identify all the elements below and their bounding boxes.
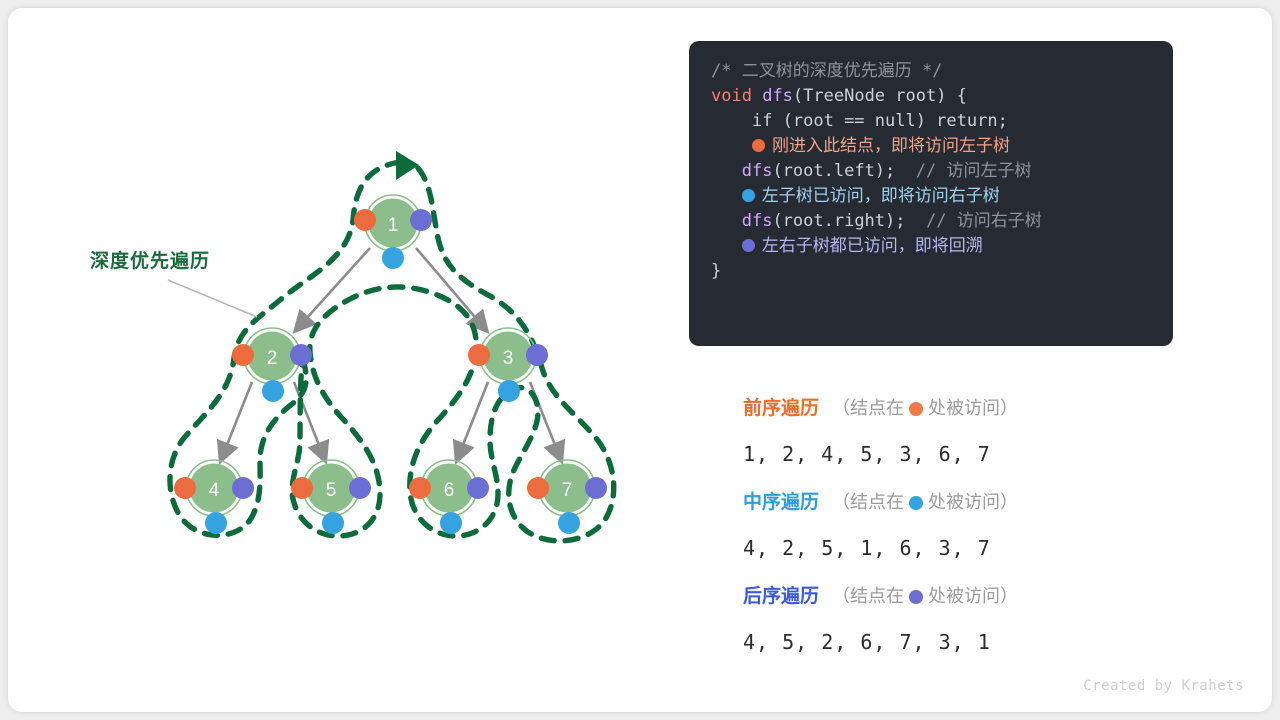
postorder-dot-icon: [742, 239, 755, 252]
inorder-note-suffix: 处被访问）: [928, 492, 1018, 512]
postorder-dot: [232, 477, 254, 499]
postorder-title: 后序遍历: [743, 586, 819, 607]
node-label: 2: [267, 348, 278, 369]
preorder-dot-icon: [909, 402, 923, 416]
preorder-note-suffix: 处被访问）: [928, 398, 1018, 418]
preorder-dot: [354, 209, 376, 231]
postorder-dot-icon: [909, 590, 923, 604]
postorder-dot: [585, 477, 607, 499]
inorder-sequence: 4, 2, 5, 1, 6, 3, 7: [743, 525, 1183, 571]
tree-nodes: 1 2 3: [174, 195, 607, 534]
code-keyword-void: void: [711, 86, 752, 106]
credit-text: Created by Krahets: [1083, 678, 1244, 694]
dfs-annotation-label: 深度优先遍历: [90, 246, 210, 273]
inorder-heading: 中序遍历（结点在处被访问）: [743, 480, 1183, 525]
postorder-dot: [410, 209, 432, 231]
result-group-inorder: 中序遍历（结点在处被访问） 4, 2, 5, 1, 6, 3, 7: [743, 480, 1183, 571]
code-function-name: dfs: [762, 86, 793, 106]
binary-tree-diagram: 1 2 3: [8, 8, 688, 712]
result-group-postorder: 后序遍历（结点在处被访问） 4, 5, 2, 6, 7, 3, 1: [743, 574, 1183, 665]
traversal-results: 前序遍历（结点在处被访问） 1, 2, 4, 5, 3, 6, 7 中序遍历（结…: [743, 386, 1183, 668]
preorder-dot: [291, 477, 313, 499]
postorder-heading: 后序遍历（结点在处被访问）: [743, 574, 1183, 619]
inorder-note-prefix: （结点在: [832, 492, 904, 512]
figure-card: 1 2 3: [8, 8, 1272, 712]
code-call-right-args: (root.right);: [772, 211, 905, 231]
code-signature-rest: (TreeNode root) {: [793, 86, 967, 106]
code-call-left-args: (root.left);: [772, 161, 895, 181]
tree-node-1[interactable]: 1: [354, 195, 432, 269]
code-closing-brace: }: [711, 261, 721, 281]
postorder-dot: [467, 477, 489, 499]
inorder-dot: [262, 380, 284, 402]
preorder-dot: [409, 477, 431, 499]
code-comment-right: // 访问右子树: [926, 211, 1042, 231]
preorder-dot: [232, 344, 254, 366]
inorder-dot-icon: [742, 189, 755, 202]
inorder-dot: [322, 512, 344, 534]
code-comment-header: /* 二叉树的深度优先遍历 */: [711, 61, 942, 81]
preorder-heading: 前序遍历（结点在处被访问）: [743, 386, 1183, 431]
inorder-title: 中序遍历: [743, 492, 819, 513]
preorder-title: 前序遍历: [743, 398, 819, 419]
node-label: 5: [326, 480, 337, 501]
postorder-dot: [349, 477, 371, 499]
preorder-sequence: 1, 2, 4, 5, 3, 6, 7: [743, 431, 1183, 477]
node-label: 1: [388, 215, 399, 236]
node-label: 4: [209, 480, 220, 501]
inorder-dot: [205, 512, 227, 534]
preorder-dot: [174, 477, 196, 499]
preorder-dot-icon: [752, 139, 765, 152]
preorder-dot: [468, 344, 490, 366]
code-null-check: if (root == null) return;: [752, 111, 1008, 131]
preorder-dot: [527, 477, 549, 499]
postorder-dot: [526, 344, 548, 366]
inorder-dot: [440, 512, 462, 534]
postorder-note-prefix: （结点在: [832, 586, 904, 606]
postorder-note-suffix: 处被访问）: [928, 586, 1018, 606]
inorder-dot-icon: [909, 496, 923, 510]
inorder-dot: [382, 247, 404, 269]
result-group-preorder: 前序遍历（结点在处被访问） 1, 2, 4, 5, 3, 6, 7: [743, 386, 1183, 477]
postorder-sequence: 4, 5, 2, 6, 7, 3, 1: [743, 619, 1183, 665]
preorder-note-prefix: （结点在: [832, 398, 904, 418]
inorder-dot: [498, 380, 520, 402]
code-annotation-inorder: 左子树已访问，即将访问右子树: [762, 184, 1000, 209]
code-call-left-fn: dfs: [742, 161, 773, 181]
node-label: 6: [444, 480, 455, 501]
start-play-icon: [396, 151, 419, 180]
postorder-dot: [290, 344, 312, 366]
node-label: 3: [503, 348, 514, 369]
code-block: /* 二叉树的深度优先遍历 */ void dfs(TreeNode root)…: [689, 41, 1173, 346]
label-pointer-line: [168, 280, 257, 317]
code-annotation-postorder: 左右子树都已访问，即将回溯: [762, 234, 983, 259]
code-annotation-preorder: 刚进入此结点，即将访问左子树: [772, 134, 1010, 159]
inorder-dot: [558, 512, 580, 534]
tree-svg: 1 2 3: [8, 8, 688, 712]
tree-node-3[interactable]: 3: [468, 328, 548, 402]
tree-node-7[interactable]: 7: [527, 460, 607, 534]
code-call-right-fn: dfs: [742, 211, 773, 231]
node-label: 7: [562, 480, 573, 501]
code-comment-left: // 访问左子树: [916, 161, 1032, 181]
